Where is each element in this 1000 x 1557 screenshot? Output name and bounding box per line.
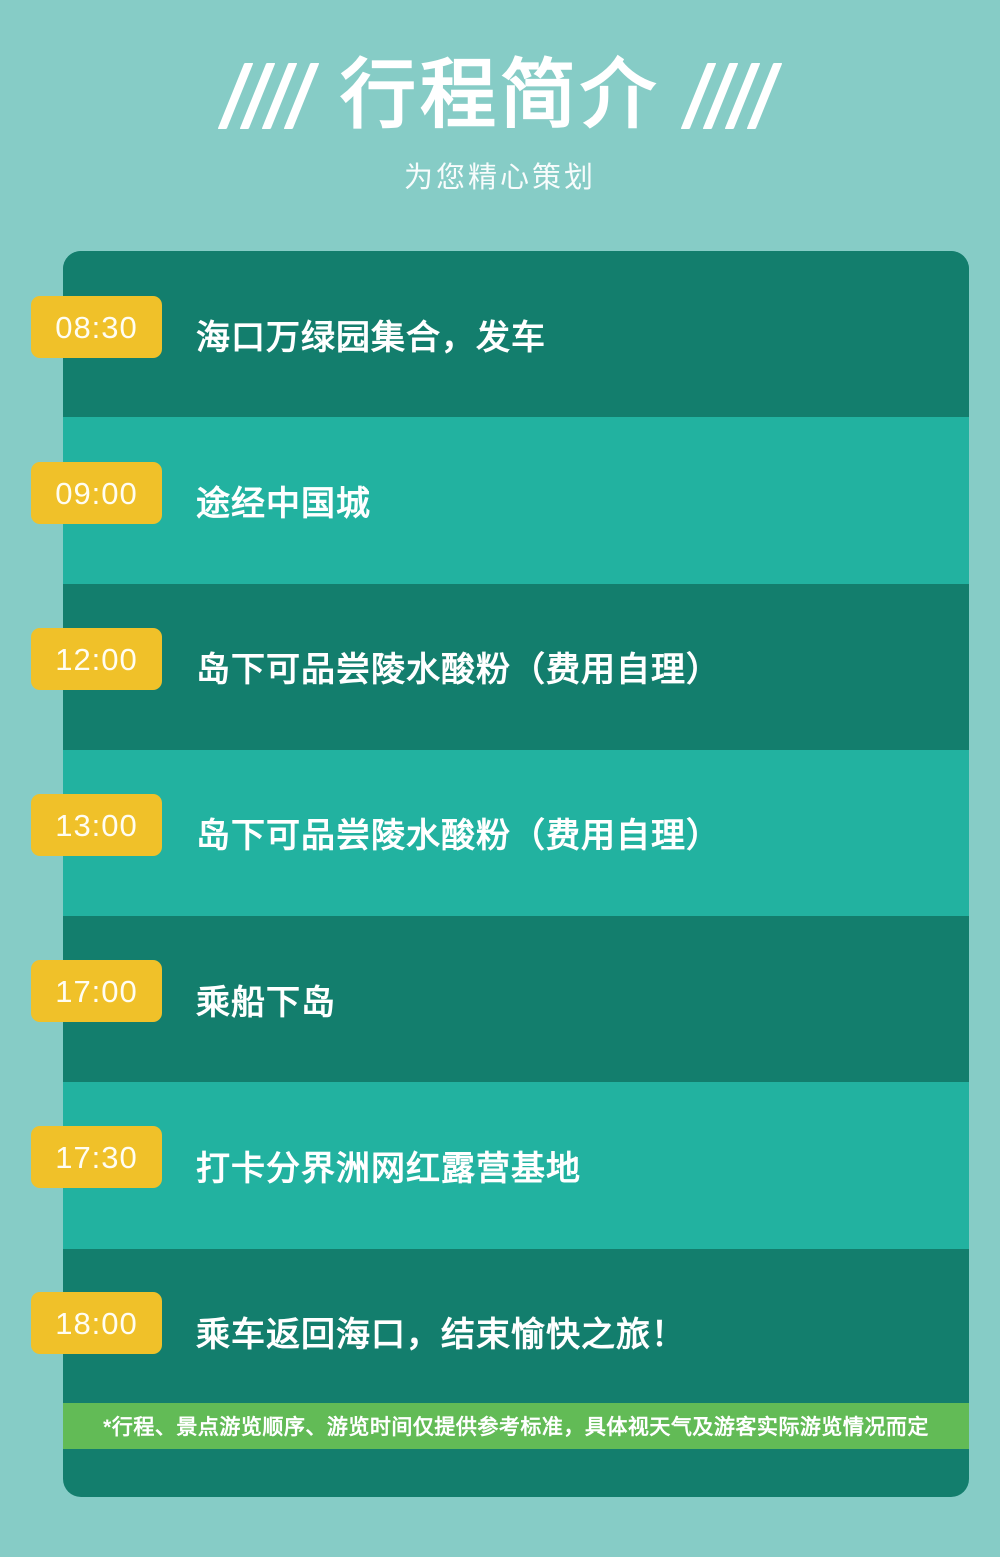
activity-label: 海口万绿园集合，发车 xyxy=(196,310,546,359)
slash-decoration-right-icon xyxy=(694,60,769,132)
table-row[interactable]: 岛下可品尝陵水酸粉（费用自理） xyxy=(63,750,969,916)
title-row: 行程简介 xyxy=(0,58,1000,134)
page-title: 行程简介 xyxy=(340,58,660,134)
activity-label: 打卡分界洲网红露营基地 xyxy=(196,1141,581,1190)
time-label: 18:00 xyxy=(55,1308,138,1339)
slash-decoration-left-icon xyxy=(231,60,306,132)
time-badge[interactable]: 13:00 xyxy=(31,794,162,856)
time-label: 08:30 xyxy=(55,312,138,343)
table-row[interactable]: 乘船下岛 xyxy=(63,916,969,1082)
activity-label: 乘车返回海口，结束愉快之旅！ xyxy=(196,1307,686,1356)
time-badge[interactable]: 17:00 xyxy=(31,960,162,1022)
time-badge[interactable]: 08:30 xyxy=(31,296,162,358)
table-row[interactable]: 海口万绿园集合，发车 xyxy=(63,251,969,417)
table-row[interactable]: 途经中国城 xyxy=(63,417,969,583)
page-header: 行程简介 为您精心策划 xyxy=(0,0,1000,196)
activity-label: 乘船下岛 xyxy=(196,975,336,1024)
time-label: 17:30 xyxy=(55,1142,138,1173)
time-badge[interactable]: 17:30 xyxy=(31,1126,162,1188)
itinerary-row-list: 海口万绿园集合，发车 途经中国城 岛下可品尝陵水酸粉（费用自理） 岛下可品尝陵水… xyxy=(63,251,969,1415)
table-row[interactable]: 岛下可品尝陵水酸粉（费用自理） xyxy=(63,584,969,750)
activity-label: 岛下可品尝陵水酸粉（费用自理） xyxy=(196,642,721,691)
activity-label: 岛下可品尝陵水酸粉（费用自理） xyxy=(196,808,721,857)
disclaimer-note: *行程、景点游览顺序、游览时间仅提供参考标准，具体视天气及游客实际游览情况而定 xyxy=(63,1403,969,1449)
table-row[interactable]: 打卡分界洲网红露营基地 xyxy=(63,1082,969,1248)
time-badge[interactable]: 18:00 xyxy=(31,1292,162,1354)
disclaimer-text: *行程、景点游览顺序、游览时间仅提供参考标准，具体视天气及游客实际游览情况而定 xyxy=(103,1411,929,1441)
page-subtitle: 为您精心策划 xyxy=(0,154,1000,196)
itinerary-card: 海口万绿园集合，发车 途经中国城 岛下可品尝陵水酸粉（费用自理） 岛下可品尝陵水… xyxy=(63,251,969,1497)
table-row[interactable]: 乘车返回海口，结束愉快之旅！ xyxy=(63,1249,969,1415)
time-label: 17:00 xyxy=(55,976,138,1007)
time-badge[interactable]: 09:00 xyxy=(31,462,162,524)
activity-label: 途经中国城 xyxy=(196,476,371,525)
time-label: 12:00 xyxy=(55,644,138,675)
time-label: 09:00 xyxy=(55,478,138,509)
time-badge[interactable]: 12:00 xyxy=(31,628,162,690)
time-label: 13:00 xyxy=(55,810,138,841)
